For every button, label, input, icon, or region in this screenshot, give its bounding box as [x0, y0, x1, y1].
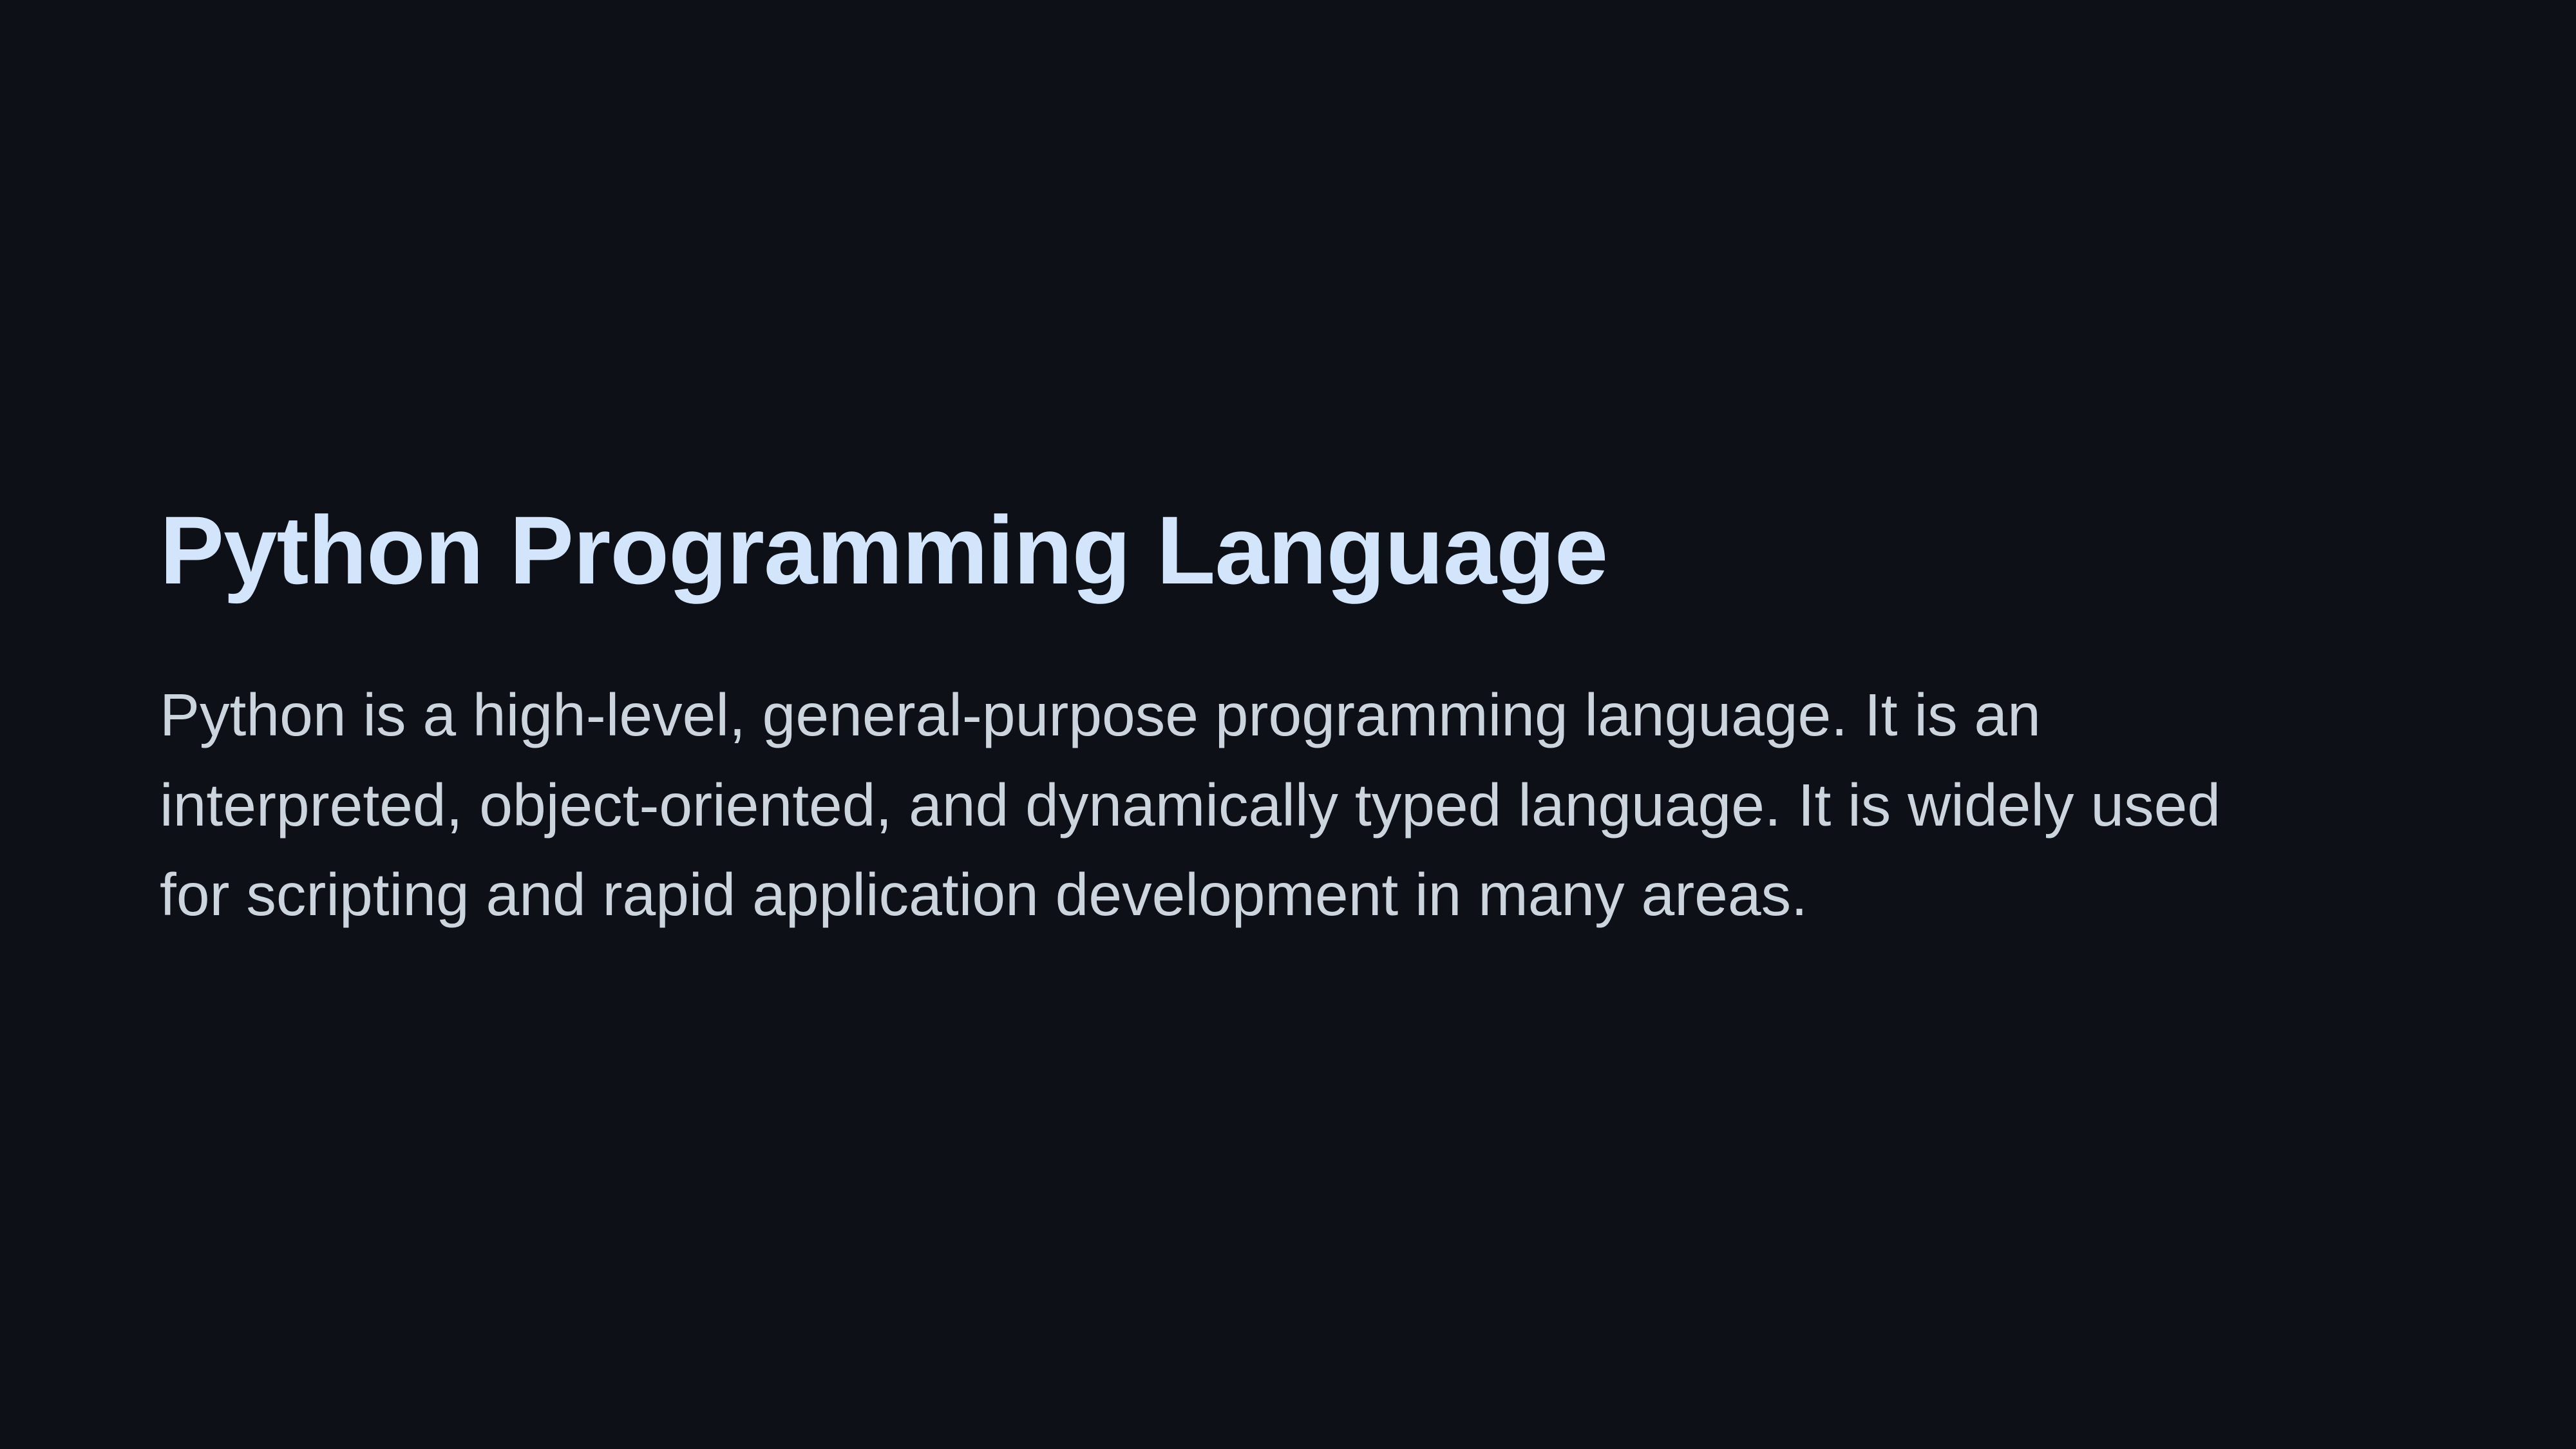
page-title: Python Programming Language	[160, 496, 2291, 604]
article-description: Python is a high-level, general-purpose …	[160, 670, 2291, 940]
page-root: Python Programming Language Python is a …	[0, 0, 2576, 1449]
article-container: Python Programming Language Python is a …	[160, 496, 2291, 940]
